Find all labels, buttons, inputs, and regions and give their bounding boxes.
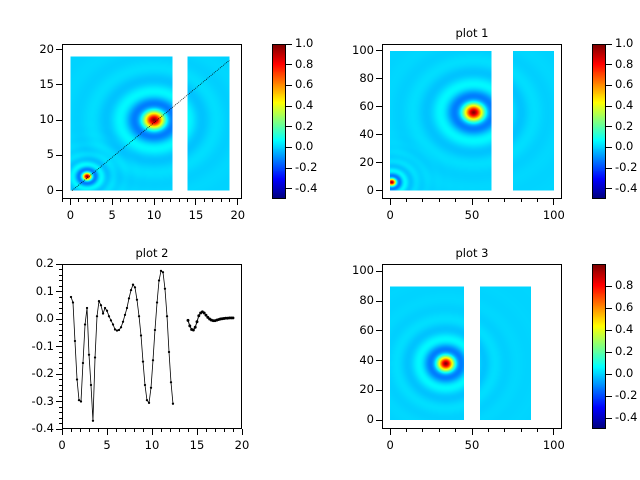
x-tick-minor bbox=[137, 199, 138, 202]
x-tick-minor bbox=[224, 429, 225, 432]
title-plot3: plot 3 bbox=[382, 246, 562, 260]
x-tick-minor bbox=[221, 199, 222, 202]
x-tick-minor bbox=[422, 429, 423, 432]
y-tick-label: 100 bbox=[326, 43, 374, 57]
y-tick-major bbox=[376, 390, 382, 391]
data-point-marker bbox=[130, 289, 132, 291]
x-tick-minor bbox=[390, 429, 391, 432]
x-tick-minor bbox=[145, 199, 146, 202]
data-point-marker bbox=[196, 320, 199, 323]
data-point-marker bbox=[112, 323, 114, 325]
colorbar-tick bbox=[286, 147, 292, 148]
x-tick-minor bbox=[488, 429, 489, 432]
y-tick-minor bbox=[59, 423, 62, 424]
colorbar-tick bbox=[606, 85, 612, 86]
y-tick-minor bbox=[59, 429, 62, 430]
x-tick-label: 10 bbox=[130, 438, 174, 452]
y-tick-minor bbox=[59, 269, 62, 270]
colorbar-tick bbox=[606, 168, 612, 169]
y-tick-minor bbox=[59, 330, 62, 331]
x-tick-minor bbox=[87, 199, 88, 202]
y-tick-major bbox=[56, 190, 62, 191]
x-tick-label: 50 bbox=[450, 438, 494, 452]
x-tick-minor bbox=[70, 199, 71, 202]
x-tick-minor bbox=[455, 429, 456, 432]
data-point-marker bbox=[124, 314, 126, 316]
data-point-marker bbox=[116, 329, 118, 331]
x-tick-minor bbox=[242, 429, 243, 432]
y-tick-major bbox=[376, 106, 382, 107]
y-tick-label: 80 bbox=[326, 293, 374, 307]
colorbar-gradient-plot3 bbox=[593, 265, 605, 428]
data-point-marker bbox=[160, 270, 162, 272]
colorbar-tick-label: 0.8 bbox=[615, 278, 633, 292]
x-tick-minor bbox=[537, 199, 538, 202]
x-tick-minor bbox=[62, 199, 63, 202]
y-tick-label: 20 bbox=[326, 155, 374, 169]
x-tick-minor bbox=[170, 429, 171, 432]
x-tick-label: 15 bbox=[174, 208, 218, 222]
colorbar-tick-label: 0.6 bbox=[615, 77, 633, 91]
x-tick-minor bbox=[120, 199, 121, 202]
x-tick-minor bbox=[553, 429, 554, 432]
x-tick-label: 0 bbox=[48, 208, 92, 222]
y-tick-major bbox=[376, 78, 382, 79]
data-point-marker bbox=[78, 399, 80, 401]
colorbar-gradient-plot0 bbox=[273, 45, 285, 198]
x-tick-minor bbox=[116, 429, 117, 432]
colorbar-tick-label: -0.4 bbox=[615, 410, 637, 424]
data-point-marker bbox=[168, 351, 170, 353]
x-tick-minor bbox=[553, 199, 554, 202]
x-tick-minor bbox=[504, 429, 505, 432]
x-tick-minor bbox=[78, 199, 79, 202]
data-point-marker bbox=[72, 301, 74, 303]
x-tick-label: 0 bbox=[368, 208, 412, 222]
data-point-marker bbox=[76, 378, 78, 380]
y-tick-minor bbox=[59, 264, 62, 265]
y-tick-label: -0.4 bbox=[6, 421, 54, 435]
x-tick-minor bbox=[125, 429, 126, 432]
colorbar-tick bbox=[606, 396, 612, 397]
y-tick-minor bbox=[59, 335, 62, 336]
data-point-marker bbox=[98, 300, 100, 302]
data-point-marker bbox=[90, 384, 92, 386]
y-tick-minor bbox=[59, 357, 62, 358]
x-tick-minor bbox=[179, 429, 180, 432]
x-tick-minor bbox=[233, 429, 234, 432]
y-tick-label: 40 bbox=[326, 353, 374, 367]
y-tick-label: 20 bbox=[326, 382, 374, 396]
x-tick-minor bbox=[179, 199, 180, 202]
subplot-bottom-left: 051015200.20.10.0-0.1-0.2-0.3-0.4 plot 2 bbox=[0, 240, 320, 480]
y-tick-label: 60 bbox=[326, 99, 374, 113]
y-tick-major bbox=[376, 162, 382, 163]
colorbar-tick-label: 1.0 bbox=[295, 36, 313, 50]
y-tick-major bbox=[376, 330, 382, 331]
colorbar-tick bbox=[286, 168, 292, 169]
y-tick-major bbox=[376, 50, 382, 51]
x-tick-minor bbox=[439, 429, 440, 432]
x-tick-minor bbox=[89, 429, 90, 432]
data-point-marker bbox=[134, 286, 136, 288]
y-tick-minor bbox=[59, 275, 62, 276]
x-tick-minor bbox=[161, 429, 162, 432]
y-tick-major bbox=[376, 301, 382, 302]
x-tick-minor bbox=[197, 429, 198, 432]
colorbar-tick-label: 0.2 bbox=[295, 119, 313, 133]
x-tick-minor bbox=[455, 199, 456, 202]
y-tick-label: 0.2 bbox=[6, 256, 54, 270]
y-tick-minor bbox=[59, 280, 62, 281]
data-point-marker bbox=[172, 403, 174, 405]
colorbar-tick-label: 0.2 bbox=[615, 344, 633, 358]
y-tick-label: 0 bbox=[6, 183, 54, 197]
colorbar-tick-label: -0.2 bbox=[615, 160, 637, 174]
data-point-marker bbox=[106, 310, 108, 312]
colorbar-tick-label: 0.4 bbox=[295, 98, 313, 112]
colorbar-tick-label: -0.2 bbox=[615, 388, 637, 402]
x-tick-minor bbox=[188, 429, 189, 432]
x-tick-minor bbox=[406, 199, 407, 202]
colorbar-plot1 bbox=[592, 44, 606, 199]
heatmap-image-plot3 bbox=[382, 264, 562, 429]
title-plot1: plot 1 bbox=[382, 26, 562, 40]
y-tick-label: 15 bbox=[6, 77, 54, 91]
y-tick-major bbox=[376, 134, 382, 135]
x-tick-label: 50 bbox=[450, 208, 494, 222]
y-tick-minor bbox=[59, 297, 62, 298]
x-tick-minor bbox=[95, 199, 96, 202]
colorbar-tick bbox=[606, 188, 612, 189]
data-point-marker bbox=[140, 334, 142, 336]
y-tick-label: 20 bbox=[6, 42, 54, 56]
colorbar-tick bbox=[606, 64, 612, 65]
x-tick-label: 100 bbox=[532, 208, 576, 222]
data-point-marker bbox=[148, 402, 150, 404]
data-point-marker bbox=[136, 299, 138, 301]
x-tick-minor bbox=[229, 199, 230, 202]
data-point-marker bbox=[158, 279, 160, 281]
y-tick-label: 60 bbox=[326, 323, 374, 337]
y-tick-label: 0 bbox=[326, 183, 374, 197]
colorbar-tick-label: -0.2 bbox=[295, 160, 317, 174]
colorbar-tick bbox=[606, 44, 612, 45]
y-tick-major bbox=[376, 360, 382, 361]
y-tick-minor bbox=[59, 418, 62, 419]
y-tick-major bbox=[376, 271, 382, 272]
y-tick-label: 0.1 bbox=[6, 284, 54, 298]
y-tick-label: -0.1 bbox=[6, 339, 54, 353]
x-tick-minor bbox=[537, 429, 538, 432]
colorbar-tick bbox=[286, 126, 292, 127]
colorbar-tick-label: 0.8 bbox=[615, 57, 633, 71]
y-tick-minor bbox=[59, 390, 62, 391]
subplot-top-right: 050100020406080100 plot 1 1.00.80.60.40.… bbox=[320, 0, 640, 240]
colorbar-tick bbox=[606, 352, 612, 353]
y-tick-minor bbox=[59, 308, 62, 309]
data-point-marker bbox=[108, 315, 110, 317]
x-tick-minor bbox=[154, 199, 155, 202]
x-tick-minor bbox=[488, 199, 489, 202]
x-tick-minor bbox=[170, 199, 171, 202]
heatmap-image-plot1 bbox=[382, 44, 562, 199]
data-point-marker bbox=[162, 271, 164, 273]
x-tick-minor bbox=[204, 199, 205, 202]
data-point-marker bbox=[104, 307, 106, 309]
y-tick-major bbox=[56, 120, 62, 121]
colorbar-tick-label: 0.8 bbox=[295, 57, 313, 71]
data-point-marker bbox=[96, 315, 98, 317]
y-tick-minor bbox=[59, 302, 62, 303]
data-point-marker bbox=[156, 301, 158, 303]
x-tick-label: 20 bbox=[216, 208, 260, 222]
colorbar-tick bbox=[286, 188, 292, 189]
data-point-marker bbox=[74, 340, 76, 342]
data-point-marker bbox=[152, 359, 154, 361]
x-tick-minor bbox=[215, 429, 216, 432]
x-tick-minor bbox=[390, 199, 391, 202]
y-tick-minor bbox=[59, 346, 62, 347]
x-tick-minor bbox=[107, 429, 108, 432]
colorbar-tick-label: 1.0 bbox=[615, 36, 633, 50]
y-tick-label: 5 bbox=[6, 147, 54, 161]
data-point-marker bbox=[120, 326, 122, 328]
x-tick-minor bbox=[98, 429, 99, 432]
colorbar-tick-label: 0.0 bbox=[295, 139, 313, 153]
x-tick-minor bbox=[128, 199, 129, 202]
x-tick-minor bbox=[422, 199, 423, 202]
data-point-marker bbox=[192, 329, 195, 332]
colorbar-tick bbox=[286, 64, 292, 65]
y-tick-minor bbox=[59, 368, 62, 369]
colorbar-tick-label: 0.0 bbox=[615, 366, 633, 380]
x-tick-minor bbox=[504, 199, 505, 202]
x-tick-label: 0 bbox=[40, 438, 84, 452]
x-tick-label: 0 bbox=[368, 438, 412, 452]
x-tick-minor bbox=[195, 199, 196, 202]
x-tick-label: 15 bbox=[175, 438, 219, 452]
colorbar-tick-label: 0.6 bbox=[615, 300, 633, 314]
line-path-segment-1 bbox=[71, 271, 173, 421]
colorbar-tick bbox=[606, 374, 612, 375]
x-tick-label: 5 bbox=[85, 438, 129, 452]
y-tick-minor bbox=[59, 407, 62, 408]
x-tick-label: 10 bbox=[132, 208, 176, 222]
x-tick-label: 5 bbox=[90, 208, 134, 222]
x-tick-minor bbox=[162, 199, 163, 202]
y-tick-label: -0.3 bbox=[6, 394, 54, 408]
colorbar-tick bbox=[606, 308, 612, 309]
data-point-marker bbox=[146, 399, 148, 401]
subplot-top-left: 0510152005101520 1.00.80.60.40.20.0-0.2-… bbox=[0, 0, 320, 240]
x-tick-minor bbox=[439, 199, 440, 202]
y-tick-minor bbox=[59, 319, 62, 320]
y-tick-minor bbox=[59, 352, 62, 353]
y-tick-major bbox=[376, 190, 382, 191]
y-tick-major bbox=[56, 49, 62, 50]
x-tick-label: 20 bbox=[220, 438, 264, 452]
y-tick-minor bbox=[59, 341, 62, 342]
subplot-bottom-right: 050100020406080100 plot 3 0.80.60.40.20.… bbox=[320, 240, 640, 480]
data-point-marker bbox=[92, 420, 94, 422]
data-point-marker bbox=[118, 329, 120, 331]
colorbar-tick-label: 0.4 bbox=[615, 98, 633, 112]
data-point-marker bbox=[187, 319, 190, 322]
data-point-marker bbox=[94, 356, 96, 358]
x-tick-minor bbox=[212, 199, 213, 202]
data-point-marker bbox=[88, 354, 90, 356]
y-tick-minor bbox=[59, 374, 62, 375]
x-tick-minor bbox=[472, 199, 473, 202]
data-point-marker bbox=[150, 387, 152, 389]
colorbar-tick bbox=[606, 330, 612, 331]
y-tick-minor bbox=[59, 379, 62, 380]
x-tick-minor bbox=[206, 429, 207, 432]
y-tick-minor bbox=[59, 313, 62, 314]
data-point-marker bbox=[70, 296, 72, 298]
data-point-marker bbox=[154, 329, 156, 331]
x-tick-minor bbox=[103, 199, 104, 202]
x-tick-minor bbox=[237, 199, 238, 202]
data-point-marker bbox=[232, 316, 235, 319]
figure-canvas: 0510152005101520 1.00.80.60.40.20.0-0.2-… bbox=[0, 0, 640, 480]
colorbar-gradient-plot1 bbox=[593, 45, 605, 198]
y-tick-major bbox=[376, 420, 382, 421]
data-point-marker bbox=[197, 314, 200, 317]
y-tick-major bbox=[56, 84, 62, 85]
x-tick-minor bbox=[152, 429, 153, 432]
x-tick-minor bbox=[143, 429, 144, 432]
x-tick-minor bbox=[521, 199, 522, 202]
y-tick-label: -0.2 bbox=[6, 366, 54, 380]
data-point-marker bbox=[84, 323, 86, 325]
data-point-marker bbox=[100, 304, 102, 306]
colorbar-tick bbox=[606, 106, 612, 107]
data-point-marker bbox=[114, 328, 116, 330]
data-point-marker bbox=[166, 315, 168, 317]
colorbar-tick-label: 0.6 bbox=[295, 77, 313, 91]
colorbar-tick bbox=[286, 106, 292, 107]
colorbar-plot0 bbox=[272, 44, 286, 199]
colorbar-tick-label: -0.4 bbox=[615, 181, 637, 195]
data-point-marker bbox=[170, 381, 172, 383]
data-point-marker bbox=[82, 362, 84, 364]
y-tick-label: 0.0 bbox=[6, 311, 54, 325]
colorbar-tick-label: -0.4 bbox=[295, 181, 317, 195]
colorbar-tick bbox=[606, 147, 612, 148]
x-tick-minor bbox=[187, 199, 188, 202]
diagonal-annotation-line bbox=[72, 60, 229, 190]
colorbar-tick-label: 0.2 bbox=[615, 119, 633, 133]
data-point-marker bbox=[80, 400, 82, 402]
y-tick-minor bbox=[59, 401, 62, 402]
y-tick-minor bbox=[59, 385, 62, 386]
y-tick-major bbox=[56, 155, 62, 156]
x-tick-minor bbox=[71, 429, 72, 432]
x-tick-minor bbox=[112, 199, 113, 202]
y-tick-minor bbox=[59, 396, 62, 397]
y-tick-minor bbox=[59, 412, 62, 413]
data-point-marker bbox=[142, 360, 144, 362]
colorbar-tick-label: 0.0 bbox=[615, 139, 633, 153]
data-point-marker bbox=[128, 297, 130, 299]
y-tick-label: 40 bbox=[326, 127, 374, 141]
title-plot2: plot 2 bbox=[62, 246, 242, 260]
x-tick-minor bbox=[80, 429, 81, 432]
colorbar-tick bbox=[286, 85, 292, 86]
x-tick-label: 100 bbox=[532, 438, 576, 452]
y-tick-minor bbox=[59, 286, 62, 287]
colorbar-tick-label: 0.4 bbox=[615, 322, 633, 336]
x-tick-minor bbox=[406, 429, 407, 432]
y-tick-label: 0 bbox=[326, 412, 374, 426]
colorbar-tick bbox=[606, 126, 612, 127]
y-tick-label: 80 bbox=[326, 71, 374, 85]
data-point-marker bbox=[144, 384, 146, 386]
x-tick-minor bbox=[521, 429, 522, 432]
x-tick-minor bbox=[472, 429, 473, 432]
colorbar-tick bbox=[606, 286, 612, 287]
colorbar-tick bbox=[606, 418, 612, 419]
data-point-marker bbox=[102, 312, 104, 314]
data-point-marker bbox=[132, 283, 134, 285]
colorbar-plot3 bbox=[592, 264, 606, 429]
data-point-marker bbox=[138, 315, 140, 317]
y-tick-minor bbox=[59, 324, 62, 325]
data-point-marker bbox=[188, 324, 191, 327]
y-tick-label: 100 bbox=[326, 263, 374, 277]
data-point-marker bbox=[164, 288, 166, 290]
data-point-marker bbox=[110, 319, 112, 321]
data-point-marker bbox=[122, 321, 124, 323]
data-point-marker bbox=[194, 326, 197, 329]
y-tick-label: 10 bbox=[6, 112, 54, 126]
colorbar-tick bbox=[286, 44, 292, 45]
x-tick-minor bbox=[134, 429, 135, 432]
y-tick-minor bbox=[59, 291, 62, 292]
data-point-marker bbox=[126, 307, 128, 309]
y-tick-minor bbox=[59, 363, 62, 364]
data-point-marker bbox=[86, 307, 88, 309]
